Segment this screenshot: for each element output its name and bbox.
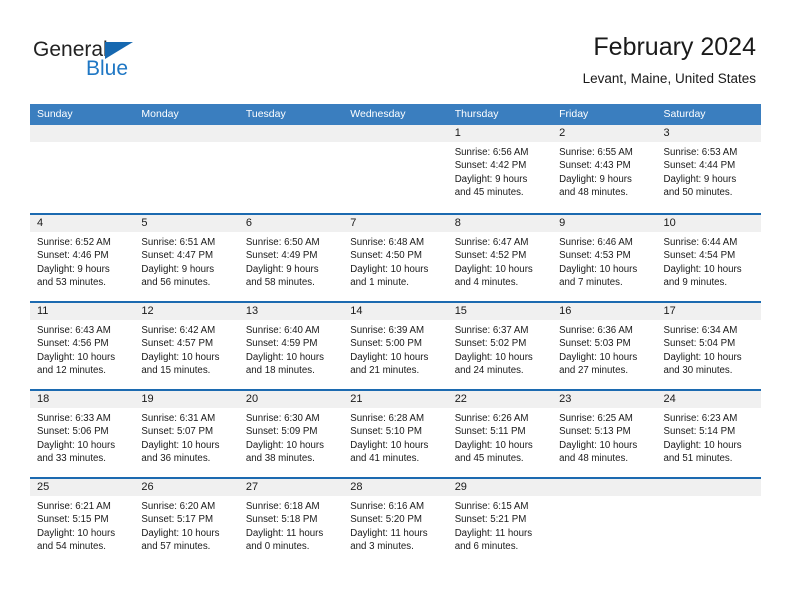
sunrise-text: Sunrise: 6:44 AM xyxy=(664,236,755,249)
day-sun-info: Sunrise: 6:28 AMSunset: 5:10 PMDaylight:… xyxy=(343,408,447,466)
sunrise-text: Sunrise: 6:50 AM xyxy=(246,236,337,249)
day-sun-info: Sunrise: 6:34 AMSunset: 5:04 PMDaylight:… xyxy=(657,320,761,378)
day-cell[interactable]: 6Sunrise: 6:50 AMSunset: 4:49 PMDaylight… xyxy=(239,215,343,301)
daylight-text-line2: and 41 minutes. xyxy=(350,452,441,465)
daylight-text-line2: and 1 minute. xyxy=(350,276,441,289)
day-number: 9 xyxy=(552,215,656,232)
day-sun-info: Sunrise: 6:20 AMSunset: 5:17 PMDaylight:… xyxy=(134,496,238,554)
day-cell-empty xyxy=(343,125,447,213)
day-cell[interactable]: 14Sunrise: 6:39 AMSunset: 5:00 PMDayligh… xyxy=(343,303,447,389)
day-cell[interactable]: 3Sunrise: 6:53 AMSunset: 4:44 PMDaylight… xyxy=(657,125,761,213)
day-sun-info: Sunrise: 6:33 AMSunset: 5:06 PMDaylight:… xyxy=(30,408,134,466)
day-sun-info: Sunrise: 6:18 AMSunset: 5:18 PMDaylight:… xyxy=(239,496,343,554)
sunset-text: Sunset: 4:52 PM xyxy=(455,249,546,262)
day-number: 14 xyxy=(343,303,447,320)
day-cell-empty xyxy=(552,479,656,565)
page-title: February 2024 xyxy=(583,32,756,62)
sunrise-text: Sunrise: 6:23 AM xyxy=(664,412,755,425)
sunset-text: Sunset: 4:54 PM xyxy=(664,249,755,262)
daylight-text-line2: and 12 minutes. xyxy=(37,364,128,377)
daylight-text-line2: and 48 minutes. xyxy=(559,452,650,465)
sunset-text: Sunset: 5:03 PM xyxy=(559,337,650,350)
day-cell[interactable]: 9Sunrise: 6:46 AMSunset: 4:53 PMDaylight… xyxy=(552,215,656,301)
daylight-text-line1: Daylight: 10 hours xyxy=(37,527,128,540)
daylight-text-line1: Daylight: 10 hours xyxy=(350,351,441,364)
sunrise-text: Sunrise: 6:28 AM xyxy=(350,412,441,425)
daylight-text-line1: Daylight: 9 hours xyxy=(664,173,755,186)
day-number: 3 xyxy=(657,125,761,142)
sunrise-text: Sunrise: 6:21 AM xyxy=(37,500,128,513)
sunset-text: Sunset: 5:20 PM xyxy=(350,513,441,526)
day-sun-info: Sunrise: 6:50 AMSunset: 4:49 PMDaylight:… xyxy=(239,232,343,290)
day-number: 17 xyxy=(657,303,761,320)
day-cell-empty xyxy=(134,125,238,213)
day-number xyxy=(134,125,238,142)
day-number: 19 xyxy=(134,391,238,408)
day-number: 1 xyxy=(448,125,552,142)
daylight-text-line1: Daylight: 10 hours xyxy=(37,439,128,452)
day-cell[interactable]: 29Sunrise: 6:15 AMSunset: 5:21 PMDayligh… xyxy=(448,479,552,565)
sunrise-text: Sunrise: 6:25 AM xyxy=(559,412,650,425)
day-cell[interactable]: 19Sunrise: 6:31 AMSunset: 5:07 PMDayligh… xyxy=(134,391,238,477)
sunrise-text: Sunrise: 6:15 AM xyxy=(455,500,546,513)
daylight-text-line2: and 9 minutes. xyxy=(664,276,755,289)
daylight-text-line2: and 27 minutes. xyxy=(559,364,650,377)
day-number: 12 xyxy=(134,303,238,320)
daylight-text-line1: Daylight: 11 hours xyxy=(246,527,337,540)
sunset-text: Sunset: 5:06 PM xyxy=(37,425,128,438)
sunset-text: Sunset: 5:09 PM xyxy=(246,425,337,438)
daylight-text-line1: Daylight: 9 hours xyxy=(455,173,546,186)
day-number: 26 xyxy=(134,479,238,496)
week-row: 11Sunrise: 6:43 AMSunset: 4:56 PMDayligh… xyxy=(30,301,761,389)
sunset-text: Sunset: 5:17 PM xyxy=(141,513,232,526)
day-sun-info: Sunrise: 6:51 AMSunset: 4:47 PMDaylight:… xyxy=(134,232,238,290)
day-sun-info: Sunrise: 6:55 AMSunset: 4:43 PMDaylight:… xyxy=(552,142,656,200)
daylight-text-line1: Daylight: 10 hours xyxy=(350,439,441,452)
daylight-text-line1: Daylight: 9 hours xyxy=(37,263,128,276)
calendar-weeks: 1Sunrise: 6:56 AMSunset: 4:42 PMDaylight… xyxy=(30,125,761,565)
day-sun-info: Sunrise: 6:36 AMSunset: 5:03 PMDaylight:… xyxy=(552,320,656,378)
day-cell[interactable]: 24Sunrise: 6:23 AMSunset: 5:14 PMDayligh… xyxy=(657,391,761,477)
daylight-text-line1: Daylight: 11 hours xyxy=(350,527,441,540)
week-row: 4Sunrise: 6:52 AMSunset: 4:46 PMDaylight… xyxy=(30,213,761,301)
daylight-text-line2: and 4 minutes. xyxy=(455,276,546,289)
day-sun-info: Sunrise: 6:44 AMSunset: 4:54 PMDaylight:… xyxy=(657,232,761,290)
day-sun-info: Sunrise: 6:30 AMSunset: 5:09 PMDaylight:… xyxy=(239,408,343,466)
day-sun-info: Sunrise: 6:25 AMSunset: 5:13 PMDaylight:… xyxy=(552,408,656,466)
sunset-text: Sunset: 4:42 PM xyxy=(455,159,546,172)
daylight-text-line1: Daylight: 10 hours xyxy=(246,351,337,364)
weekday-tuesday: Tuesday xyxy=(239,104,343,125)
day-cell[interactable]: 17Sunrise: 6:34 AMSunset: 5:04 PMDayligh… xyxy=(657,303,761,389)
sunrise-text: Sunrise: 6:16 AM xyxy=(350,500,441,513)
sunrise-text: Sunrise: 6:33 AM xyxy=(37,412,128,425)
day-sun-info: Sunrise: 6:39 AMSunset: 5:00 PMDaylight:… xyxy=(343,320,447,378)
daylight-text-line2: and 56 minutes. xyxy=(141,276,232,289)
sunset-text: Sunset: 4:43 PM xyxy=(559,159,650,172)
day-number: 24 xyxy=(657,391,761,408)
weekday-sunday: Sunday xyxy=(30,104,134,125)
day-sun-info: Sunrise: 6:43 AMSunset: 4:56 PMDaylight:… xyxy=(30,320,134,378)
day-cell[interactable]: 7Sunrise: 6:48 AMSunset: 4:50 PMDaylight… xyxy=(343,215,447,301)
daylight-text-line2: and 3 minutes. xyxy=(350,540,441,553)
day-cell[interactable]: 26Sunrise: 6:20 AMSunset: 5:17 PMDayligh… xyxy=(134,479,238,565)
day-number: 29 xyxy=(448,479,552,496)
sunset-text: Sunset: 4:47 PM xyxy=(141,249,232,262)
sunset-text: Sunset: 5:07 PM xyxy=(141,425,232,438)
daylight-text-line1: Daylight: 10 hours xyxy=(455,263,546,276)
sunrise-text: Sunrise: 6:18 AM xyxy=(246,500,337,513)
day-cell[interactable]: 20Sunrise: 6:30 AMSunset: 5:09 PMDayligh… xyxy=(239,391,343,477)
daylight-text-line1: Daylight: 9 hours xyxy=(141,263,232,276)
daylight-text-line2: and 24 minutes. xyxy=(455,364,546,377)
sunrise-text: Sunrise: 6:51 AM xyxy=(141,236,232,249)
day-sun-info: Sunrise: 6:26 AMSunset: 5:11 PMDaylight:… xyxy=(448,408,552,466)
daylight-text-line2: and 36 minutes. xyxy=(141,452,232,465)
day-number: 5 xyxy=(134,215,238,232)
weekday-monday: Monday xyxy=(134,104,238,125)
daylight-text-line1: Daylight: 10 hours xyxy=(141,351,232,364)
sunset-text: Sunset: 4:59 PM xyxy=(246,337,337,350)
sunset-text: Sunset: 5:18 PM xyxy=(246,513,337,526)
daylight-text-line2: and 57 minutes. xyxy=(141,540,232,553)
day-cell[interactable]: 4Sunrise: 6:52 AMSunset: 4:46 PMDaylight… xyxy=(30,215,134,301)
day-cell[interactable]: 28Sunrise: 6:16 AMSunset: 5:20 PMDayligh… xyxy=(343,479,447,565)
sunset-text: Sunset: 5:00 PM xyxy=(350,337,441,350)
day-cell[interactable]: 22Sunrise: 6:26 AMSunset: 5:11 PMDayligh… xyxy=(448,391,552,477)
daylight-text-line2: and 33 minutes. xyxy=(37,452,128,465)
day-cell[interactable]: 15Sunrise: 6:37 AMSunset: 5:02 PMDayligh… xyxy=(448,303,552,389)
daylight-text-line1: Daylight: 11 hours xyxy=(455,527,546,540)
sunset-text: Sunset: 5:11 PM xyxy=(455,425,546,438)
day-number xyxy=(657,479,761,496)
day-sun-info: Sunrise: 6:15 AMSunset: 5:21 PMDaylight:… xyxy=(448,496,552,554)
sunset-text: Sunset: 4:44 PM xyxy=(664,159,755,172)
daylight-text-line2: and 15 minutes. xyxy=(141,364,232,377)
day-number: 18 xyxy=(30,391,134,408)
page-header: General Blue February 2024 Levant, Maine… xyxy=(0,0,792,104)
day-number: 13 xyxy=(239,303,343,320)
day-number xyxy=(552,479,656,496)
sunrise-text: Sunrise: 6:52 AM xyxy=(37,236,128,249)
sunrise-text: Sunrise: 6:56 AM xyxy=(455,146,546,159)
daylight-text-line2: and 54 minutes. xyxy=(37,540,128,553)
daylight-text-line2: and 7 minutes. xyxy=(559,276,650,289)
sunrise-text: Sunrise: 6:46 AM xyxy=(559,236,650,249)
sunset-text: Sunset: 4:49 PM xyxy=(246,249,337,262)
daylight-text-line2: and 45 minutes. xyxy=(455,452,546,465)
day-cell[interactable]: 16Sunrise: 6:36 AMSunset: 5:03 PMDayligh… xyxy=(552,303,656,389)
daylight-text-line2: and 51 minutes. xyxy=(664,452,755,465)
daylight-text-line1: Daylight: 10 hours xyxy=(664,263,755,276)
sunrise-text: Sunrise: 6:47 AM xyxy=(455,236,546,249)
day-cell-empty xyxy=(239,125,343,213)
day-sun-info: Sunrise: 6:31 AMSunset: 5:07 PMDaylight:… xyxy=(134,408,238,466)
week-row: 18Sunrise: 6:33 AMSunset: 5:06 PMDayligh… xyxy=(30,389,761,477)
daylight-text-line2: and 30 minutes. xyxy=(664,364,755,377)
day-number: 11 xyxy=(30,303,134,320)
daylight-text-line2: and 53 minutes. xyxy=(37,276,128,289)
location-subtitle: Levant, Maine, United States xyxy=(583,70,756,87)
daylight-text-line2: and 45 minutes. xyxy=(455,186,546,199)
day-number: 22 xyxy=(448,391,552,408)
week-row: 1Sunrise: 6:56 AMSunset: 4:42 PMDaylight… xyxy=(30,125,761,213)
day-number xyxy=(239,125,343,142)
day-number: 16 xyxy=(552,303,656,320)
daylight-text-line1: Daylight: 10 hours xyxy=(141,527,232,540)
week-row: 25Sunrise: 6:21 AMSunset: 5:15 PMDayligh… xyxy=(30,477,761,565)
day-cell[interactable]: 11Sunrise: 6:43 AMSunset: 4:56 PMDayligh… xyxy=(30,303,134,389)
sunrise-text: Sunrise: 6:34 AM xyxy=(664,324,755,337)
brand-name-blue: Blue xyxy=(86,57,128,81)
day-sun-info: Sunrise: 6:53 AMSunset: 4:44 PMDaylight:… xyxy=(657,142,761,200)
day-cell[interactable]: 5Sunrise: 6:51 AMSunset: 4:47 PMDaylight… xyxy=(134,215,238,301)
sunset-text: Sunset: 5:10 PM xyxy=(350,425,441,438)
sunrise-text: Sunrise: 6:20 AM xyxy=(141,500,232,513)
daylight-text-line2: and 21 minutes. xyxy=(350,364,441,377)
day-cell[interactable]: 25Sunrise: 6:21 AMSunset: 5:15 PMDayligh… xyxy=(30,479,134,565)
daylight-text-line1: Daylight: 10 hours xyxy=(559,439,650,452)
title-block: February 2024 Levant, Maine, United Stat… xyxy=(583,32,756,87)
day-cell[interactable]: 12Sunrise: 6:42 AMSunset: 4:57 PMDayligh… xyxy=(134,303,238,389)
day-number: 25 xyxy=(30,479,134,496)
day-number: 27 xyxy=(239,479,343,496)
day-cell[interactable]: 2Sunrise: 6:55 AMSunset: 4:43 PMDaylight… xyxy=(552,125,656,213)
day-cell[interactable]: 18Sunrise: 6:33 AMSunset: 5:06 PMDayligh… xyxy=(30,391,134,477)
daylight-text-line2: and 38 minutes. xyxy=(246,452,337,465)
sunset-text: Sunset: 5:14 PM xyxy=(664,425,755,438)
day-sun-info: Sunrise: 6:16 AMSunset: 5:20 PMDaylight:… xyxy=(343,496,447,554)
sunrise-text: Sunrise: 6:55 AM xyxy=(559,146,650,159)
calendar-page: General Blue February 2024 Levant, Maine… xyxy=(0,0,792,612)
brand-logo[interactable]: General Blue xyxy=(33,38,263,82)
day-cell-empty xyxy=(657,479,761,565)
day-sun-info: Sunrise: 6:21 AMSunset: 5:15 PMDaylight:… xyxy=(30,496,134,554)
daylight-text-line1: Daylight: 10 hours xyxy=(559,351,650,364)
sunrise-text: Sunrise: 6:40 AM xyxy=(246,324,337,337)
day-number xyxy=(343,125,447,142)
day-sun-info: Sunrise: 6:47 AMSunset: 4:52 PMDaylight:… xyxy=(448,232,552,290)
daylight-text-line1: Daylight: 10 hours xyxy=(350,263,441,276)
sunset-text: Sunset: 4:46 PM xyxy=(37,249,128,262)
sunrise-text: Sunrise: 6:26 AM xyxy=(455,412,546,425)
sunset-text: Sunset: 4:57 PM xyxy=(141,337,232,350)
weekday-wednesday: Wednesday xyxy=(343,104,447,125)
daylight-text-line1: Daylight: 10 hours xyxy=(559,263,650,276)
sunset-text: Sunset: 5:21 PM xyxy=(455,513,546,526)
day-number: 28 xyxy=(343,479,447,496)
daylight-text-line1: Daylight: 9 hours xyxy=(246,263,337,276)
sunset-text: Sunset: 5:02 PM xyxy=(455,337,546,350)
sunrise-text: Sunrise: 6:43 AM xyxy=(37,324,128,337)
day-sun-info: Sunrise: 6:48 AMSunset: 4:50 PMDaylight:… xyxy=(343,232,447,290)
daylight-text-line2: and 50 minutes. xyxy=(664,186,755,199)
day-cell[interactable]: 21Sunrise: 6:28 AMSunset: 5:10 PMDayligh… xyxy=(343,391,447,477)
daylight-text-line1: Daylight: 10 hours xyxy=(37,351,128,364)
day-sun-info: Sunrise: 6:40 AMSunset: 4:59 PMDaylight:… xyxy=(239,320,343,378)
daylight-text-line2: and 0 minutes. xyxy=(246,540,337,553)
day-number xyxy=(30,125,134,142)
daylight-text-line1: Daylight: 9 hours xyxy=(559,173,650,186)
daylight-text-line1: Daylight: 10 hours xyxy=(664,439,755,452)
day-number: 8 xyxy=(448,215,552,232)
daylight-text-line2: and 6 minutes. xyxy=(455,540,546,553)
sunrise-text: Sunrise: 6:37 AM xyxy=(455,324,546,337)
day-sun-info: Sunrise: 6:52 AMSunset: 4:46 PMDaylight:… xyxy=(30,232,134,290)
daylight-text-line1: Daylight: 10 hours xyxy=(664,351,755,364)
day-number: 10 xyxy=(657,215,761,232)
weekday-friday: Friday xyxy=(552,104,656,125)
day-number: 20 xyxy=(239,391,343,408)
sunrise-text: Sunrise: 6:36 AM xyxy=(559,324,650,337)
sunset-text: Sunset: 4:56 PM xyxy=(37,337,128,350)
daylight-text-line2: and 48 minutes. xyxy=(559,186,650,199)
daylight-text-line1: Daylight: 10 hours xyxy=(246,439,337,452)
weekday-thursday: Thursday xyxy=(448,104,552,125)
day-cell[interactable]: 23Sunrise: 6:25 AMSunset: 5:13 PMDayligh… xyxy=(552,391,656,477)
day-cell[interactable]: 1Sunrise: 6:56 AMSunset: 4:42 PMDaylight… xyxy=(448,125,552,213)
sunrise-text: Sunrise: 6:42 AM xyxy=(141,324,232,337)
sunset-text: Sunset: 5:15 PM xyxy=(37,513,128,526)
daylight-text-line2: and 18 minutes. xyxy=(246,364,337,377)
day-number: 15 xyxy=(448,303,552,320)
day-cell[interactable]: 8Sunrise: 6:47 AMSunset: 4:52 PMDaylight… xyxy=(448,215,552,301)
sunrise-text: Sunrise: 6:48 AM xyxy=(350,236,441,249)
day-cell[interactable]: 10Sunrise: 6:44 AMSunset: 4:54 PMDayligh… xyxy=(657,215,761,301)
daylight-text-line2: and 58 minutes. xyxy=(246,276,337,289)
day-number: 7 xyxy=(343,215,447,232)
day-cell-empty xyxy=(30,125,134,213)
sunrise-text: Sunrise: 6:31 AM xyxy=(141,412,232,425)
sunrise-text: Sunrise: 6:39 AM xyxy=(350,324,441,337)
day-cell[interactable]: 13Sunrise: 6:40 AMSunset: 4:59 PMDayligh… xyxy=(239,303,343,389)
daylight-text-line1: Daylight: 10 hours xyxy=(455,351,546,364)
day-number: 6 xyxy=(239,215,343,232)
day-number: 21 xyxy=(343,391,447,408)
weekday-header-row: Sunday Monday Tuesday Wednesday Thursday… xyxy=(30,104,761,125)
daylight-text-line1: Daylight: 10 hours xyxy=(141,439,232,452)
sunrise-text: Sunrise: 6:53 AM xyxy=(664,146,755,159)
sunset-text: Sunset: 4:50 PM xyxy=(350,249,441,262)
daylight-text-line1: Daylight: 10 hours xyxy=(455,439,546,452)
day-sun-info: Sunrise: 6:37 AMSunset: 5:02 PMDaylight:… xyxy=(448,320,552,378)
day-cell[interactable]: 27Sunrise: 6:18 AMSunset: 5:18 PMDayligh… xyxy=(239,479,343,565)
sunrise-text: Sunrise: 6:30 AM xyxy=(246,412,337,425)
sunset-text: Sunset: 5:04 PM xyxy=(664,337,755,350)
sunset-text: Sunset: 4:53 PM xyxy=(559,249,650,262)
day-number: 4 xyxy=(30,215,134,232)
day-sun-info: Sunrise: 6:56 AMSunset: 4:42 PMDaylight:… xyxy=(448,142,552,200)
day-sun-info: Sunrise: 6:46 AMSunset: 4:53 PMDaylight:… xyxy=(552,232,656,290)
day-number: 23 xyxy=(552,391,656,408)
weekday-saturday: Saturday xyxy=(657,104,761,125)
day-number: 2 xyxy=(552,125,656,142)
day-sun-info: Sunrise: 6:42 AMSunset: 4:57 PMDaylight:… xyxy=(134,320,238,378)
day-sun-info: Sunrise: 6:23 AMSunset: 5:14 PMDaylight:… xyxy=(657,408,761,466)
sunset-text: Sunset: 5:13 PM xyxy=(559,425,650,438)
calendar-grid: Sunday Monday Tuesday Wednesday Thursday… xyxy=(30,104,761,565)
